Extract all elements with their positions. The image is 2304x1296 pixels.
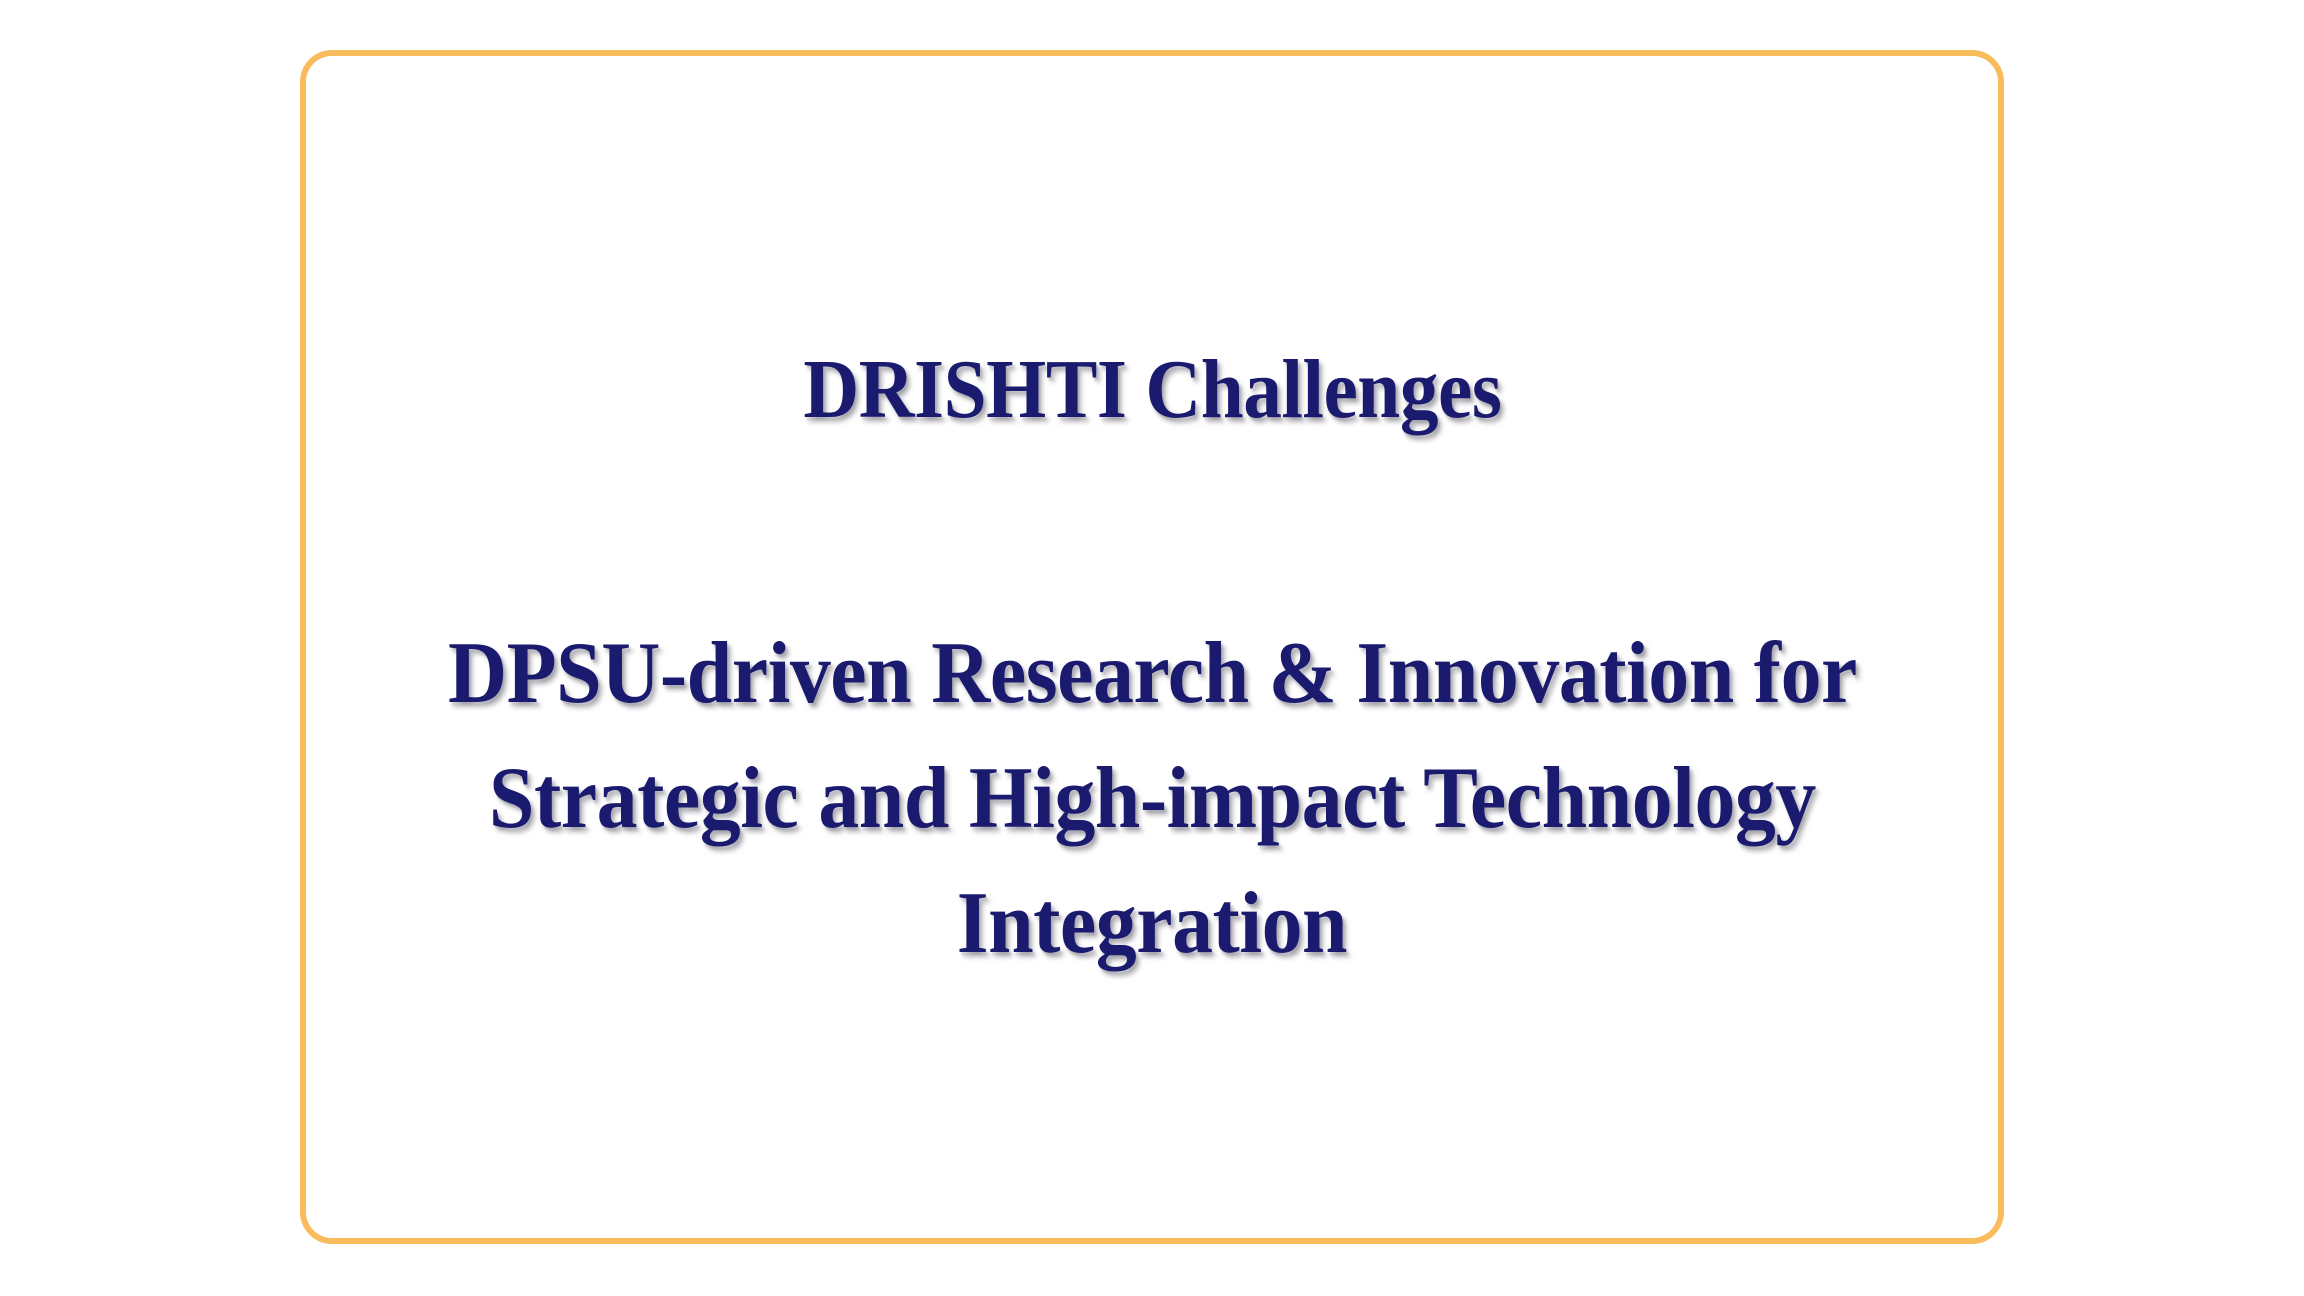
slide-canvas: DRISHTI Challenges DPSU-driven Research … <box>0 0 2304 1296</box>
subtitle-line-3-text: Integration <box>957 861 1347 986</box>
subtitle-line-3: Integration <box>332 861 1972 986</box>
subtitle-line-1: DPSU-driven Research & Innovation for <box>332 611 1972 736</box>
slide-subtitle: DPSU-driven Research & Innovation for St… <box>332 611 1972 986</box>
slide-border-frame: DRISHTI Challenges DPSU-driven Research … <box>300 50 2004 1244</box>
slide-content: DRISHTI Challenges DPSU-driven Research … <box>306 56 1998 1238</box>
subtitle-line-1-text: DPSU-driven Research & Innovation for <box>448 611 1857 736</box>
page-title: DRISHTI Challenges <box>372 338 1932 442</box>
subtitle-line-2: Strategic and High-impact Technology <box>332 736 1972 861</box>
page-title-text: DRISHTI Challenges <box>803 338 1501 442</box>
subtitle-line-2-text: Strategic and High-impact Technology <box>489 736 1816 861</box>
